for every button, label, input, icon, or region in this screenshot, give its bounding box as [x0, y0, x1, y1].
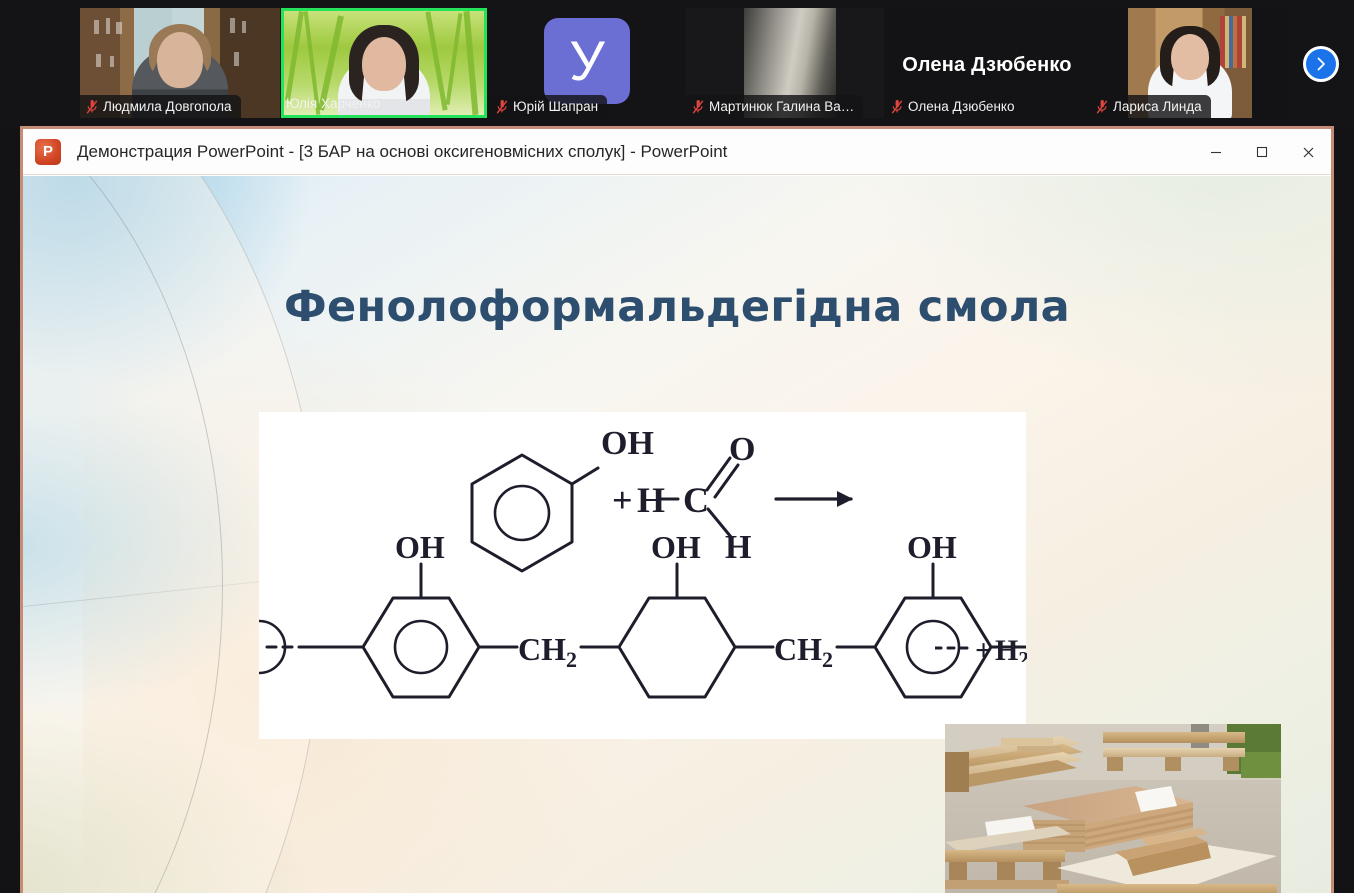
participant-name-chip: Юрій Шапран [490, 95, 607, 118]
avatar-initial: У [569, 33, 605, 89]
label-oh-ring-a: OH [395, 529, 445, 565]
participant-name: Людмила Довгопола [103, 98, 232, 115]
label-oh-phenol: OH [601, 425, 654, 462]
participant-name-chip: Лариса Линда [1090, 95, 1211, 118]
powerpoint-app-icon: P [35, 139, 61, 165]
label-ch2-bridge-2: CH2 [774, 631, 833, 672]
presentation-slide[interactable]: Фенолоформальдегідна смола [23, 176, 1331, 893]
muted-mic-icon [86, 100, 98, 114]
close-button[interactable] [1285, 129, 1331, 175]
window-title: Демонстрация PowerPoint - [3 БАР на осно… [77, 142, 727, 162]
screen-root: Людмила Довгопола Юлія Харченко [0, 0, 1354, 893]
muted-mic-icon [1096, 100, 1108, 114]
participant-name: Юрій Шапран [513, 98, 598, 115]
plywood-photo [945, 724, 1281, 893]
participant-tile-larysa[interactable]: Лариса Линда [1090, 8, 1290, 118]
chevron-right-icon [1313, 56, 1329, 72]
participant-name-chip: Юлія Харченко [284, 92, 389, 115]
muted-mic-icon [891, 100, 903, 114]
participant-name: Лариса Линда [1113, 98, 1202, 115]
next-participants-button[interactable] [1303, 46, 1339, 82]
participant-name: Юлія Харченко [286, 95, 380, 112]
participant-name-chip: Олена Дзюбенко [885, 95, 1023, 118]
water-byproduct-svg: + H2O [935, 598, 1027, 662]
participant-tile-lyudmyla[interactable]: Людмила Довгопола [80, 8, 280, 118]
label-c-1: C [683, 480, 709, 520]
video-filmstrip: Людмила Довгопола Юлія Харченко [0, 0, 1354, 128]
maximize-button[interactable] [1239, 129, 1285, 175]
window-controls [1193, 129, 1331, 175]
label-plus-1: + [612, 480, 633, 520]
participant-avatar: У [544, 18, 630, 104]
label-plus-2: + [975, 634, 992, 662]
maximize-icon [1255, 145, 1269, 159]
chemistry-reaction-svg: OH + H C O H OH OH OH CH2 CH2 [259, 412, 1026, 739]
slide-bg-wash-blue-left [23, 376, 283, 716]
powerpoint-titlebar[interactable]: P Демонстрация PowerPoint - [3 БАР на ос… [23, 129, 1331, 175]
muted-mic-icon [692, 100, 704, 114]
powerpoint-icon-letter: P [43, 139, 53, 165]
participant-tile-yuliia[interactable]: Юлія Харченко [281, 8, 487, 118]
label-water: H2O [995, 634, 1027, 662]
label-h-2: H [725, 529, 751, 566]
minimize-button[interactable] [1193, 129, 1239, 175]
label-o-1: O [729, 431, 755, 468]
close-icon [1301, 145, 1316, 160]
participant-name: Мартинюк Галина Ва… [709, 98, 854, 115]
muted-mic-icon [496, 100, 508, 114]
participant-tile-olena[interactable]: Олена Дзюбенко Олена Дзюбенко [885, 8, 1089, 118]
chemistry-reaction-panel: OH + H C O H OH OH OH CH2 CH2 [259, 412, 1026, 739]
label-oh-ring-c: OH [907, 529, 957, 565]
participant-name: Олена Дзюбенко [908, 98, 1014, 115]
powerpoint-window: P Демонстрация PowerPoint - [3 БАР на ос… [20, 126, 1334, 893]
label-h-1: H [637, 480, 665, 520]
participant-name-chip: Людмила Довгопола [80, 95, 241, 118]
slide-title: Фенолоформальдегідна смола [23, 282, 1331, 332]
participant-tile-martyniuk[interactable]: Мартинюк Галина Ва… [686, 8, 884, 118]
plywood-photo-svg [945, 724, 1281, 893]
label-ch2-bridge-1: CH2 [518, 631, 577, 672]
participant-display-name: Олена Дзюбенко [885, 54, 1089, 77]
participant-name-chip: Мартинюк Галина Ва… [686, 95, 863, 118]
minimize-icon [1209, 145, 1223, 159]
participant-tile-yurii[interactable]: У Юрій Шапран [490, 8, 684, 118]
label-oh-ring-b: OH [651, 529, 701, 565]
